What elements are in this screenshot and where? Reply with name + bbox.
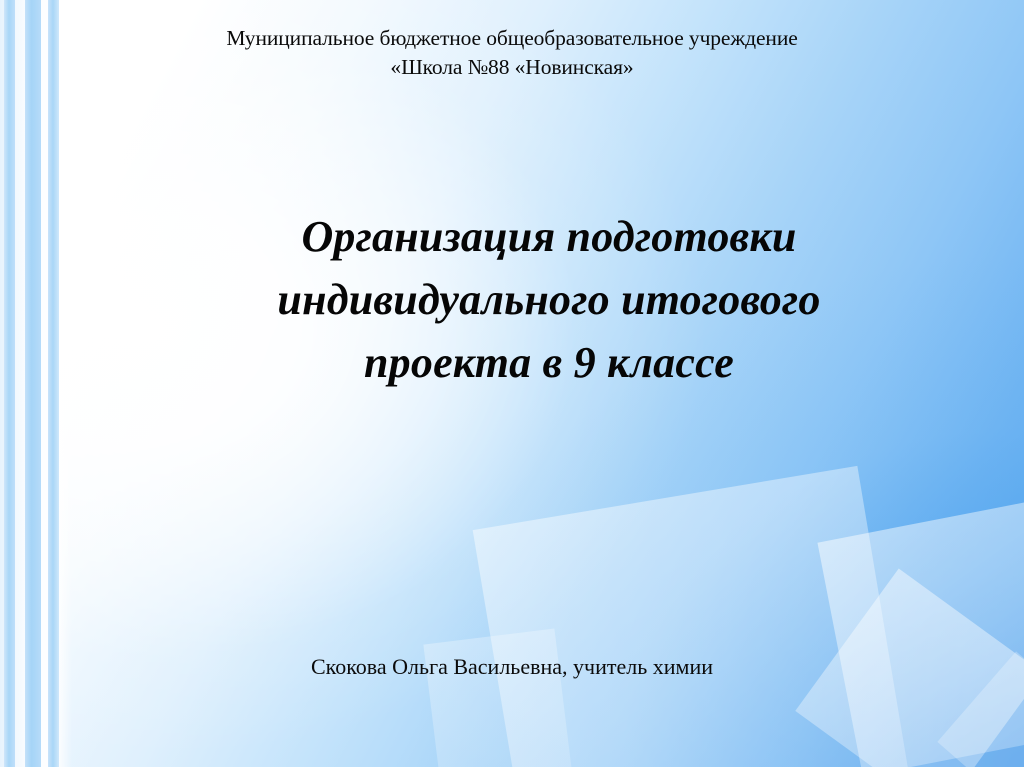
title-line-1: Организация подготовки	[120, 205, 978, 268]
organization-line-2: «Школа №88 «Новинская»	[0, 53, 1024, 82]
page-title: Организация подготовки индивидуального и…	[120, 205, 978, 394]
title-slide: Муниципальное бюджетное общеобразователь…	[0, 0, 1024, 767]
title-line-3: проекта в 9 классе	[120, 331, 978, 394]
organization-heading: Муниципальное бюджетное общеобразователь…	[0, 24, 1024, 82]
stripe-two	[25, 0, 41, 767]
author-byline: Скокова Ольга Васильевна, учитель химии	[0, 653, 1024, 681]
stripe-one	[4, 0, 15, 767]
stripe-three	[48, 0, 59, 767]
organization-line-1: Муниципальное бюджетное общеобразователь…	[0, 24, 1024, 53]
left-stripe-band	[0, 0, 72, 767]
title-line-2: индивидуального итогового	[120, 268, 978, 331]
